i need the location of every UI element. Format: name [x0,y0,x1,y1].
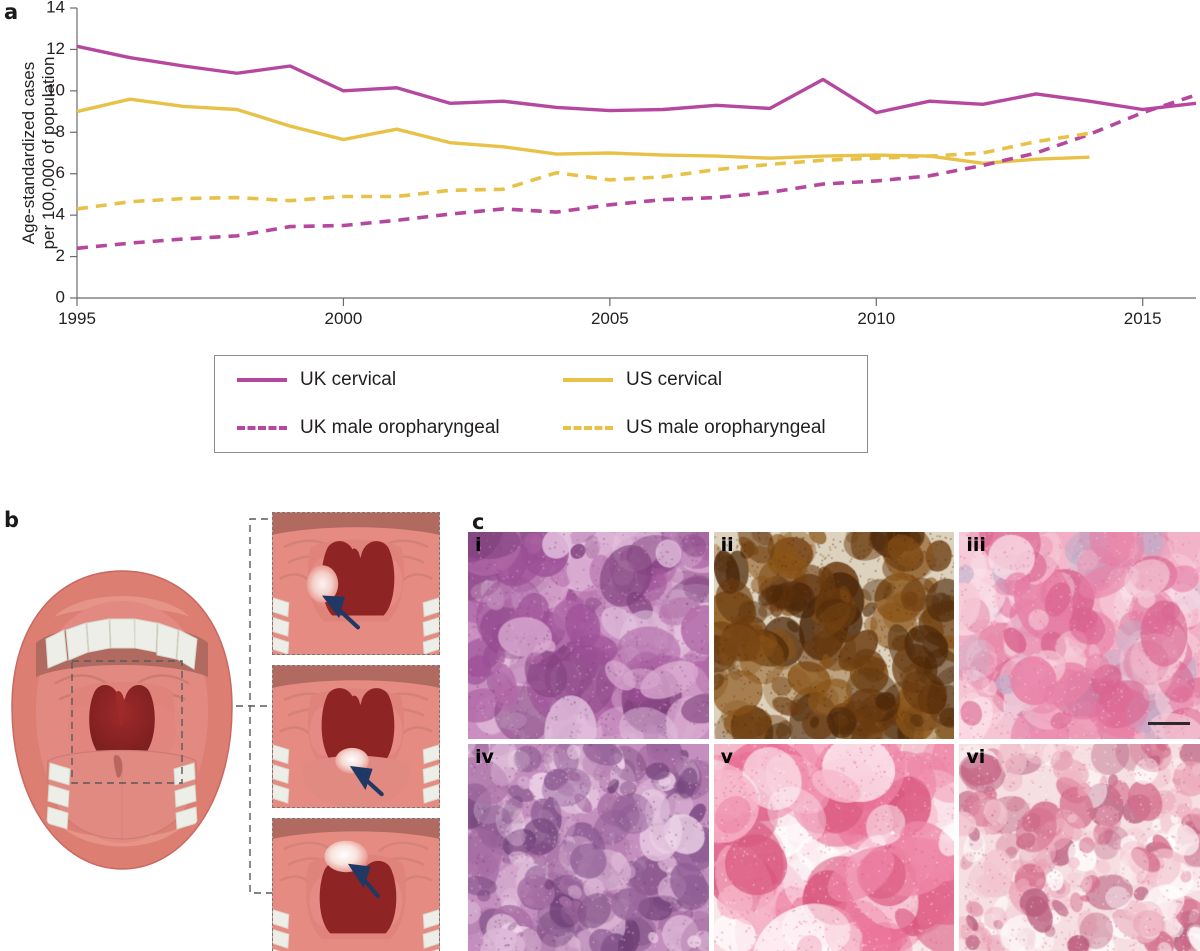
histology-label-iv: iv [475,747,494,768]
panel-label-c: c [472,512,484,533]
histology-canvas [468,532,709,739]
callout-soft-palate-lesion [272,818,440,951]
figure-root: a 0246810121419952000200520102015Age-sta… [0,0,1200,951]
x-tick-label: 1995 [58,309,96,328]
series-us_male_oropharyngeal [77,133,1089,209]
dashed-line-swatch [237,426,287,430]
histology-image-iii: iii [959,532,1200,739]
y-tick-label: 0 [56,287,65,306]
incidence-line-chart: 0246810121419952000200520102015Age-stand… [0,0,1200,350]
chart-legend: UK cervicalUS cervicalUK male oropharyng… [214,355,868,453]
x-tick-label: 2015 [1124,309,1162,328]
series-uk_male_oropharyngeal [77,95,1196,248]
series-uk_cervical [77,46,1196,112]
y-tick-label: 12 [46,39,65,58]
x-tick-label: 2010 [857,309,895,328]
histology-label-iii: iii [966,535,986,556]
chart-series [77,46,1196,248]
scale-bar [1148,722,1190,725]
histology-canvas [714,744,955,951]
line-swatch [237,378,287,382]
panel-a-chart: a 0246810121419952000200520102015Age-sta… [0,0,1200,470]
panel-b-anatomy: b [0,500,460,951]
histology-label-i: i [475,535,482,556]
histology-image-iv: iv [468,744,709,951]
legend-item-us-cervical[interactable]: US cervical [541,369,867,391]
x-tick-label: 2005 [591,309,629,328]
chart-axes [70,8,1196,306]
legend-label: UK male oropharyngeal [300,417,500,439]
histology-label-v: v [721,747,733,768]
histology-label-vi: vi [966,747,985,768]
histology-image-i: i [468,532,709,739]
line-swatch [563,378,613,382]
histology-canvas [959,532,1200,739]
y-axis-title-line-1: Age-standardized cases [19,62,38,244]
x-tick-label: 2000 [325,309,363,328]
panel-label-b: b [4,510,19,531]
histology-label-ii: ii [721,535,734,556]
legend-item-uk-cervical[interactable]: UK cervical [215,369,541,391]
callout-base-of-tongue-lesion [272,665,440,808]
callout-tonsil-lesion [272,512,440,655]
histology-image-v: v [714,744,955,951]
open-mouth-diagram [2,565,242,880]
dashed-line-swatch [563,426,613,430]
histology-canvas [468,744,709,951]
histology-canvas [714,532,955,739]
legend-label: US cervical [626,369,722,391]
y-tick-label: 14 [46,0,65,16]
histology-canvas [959,744,1200,951]
histology-image-vi: vi [959,744,1200,951]
panel-c-histology: iiiiiiivvvi [468,532,1200,951]
legend-item-us-male-oropharyngeal[interactable]: US male oropharyngeal [541,417,867,439]
legend-item-uk-male-oropharyngeal[interactable]: UK male oropharyngeal [215,417,541,439]
y-axis-title-line-2: per 100,000 of population [39,57,58,250]
legend-label: UK cervical [300,369,396,391]
legend-label: US male oropharyngeal [626,417,826,439]
histology-image-ii: ii [714,532,955,739]
